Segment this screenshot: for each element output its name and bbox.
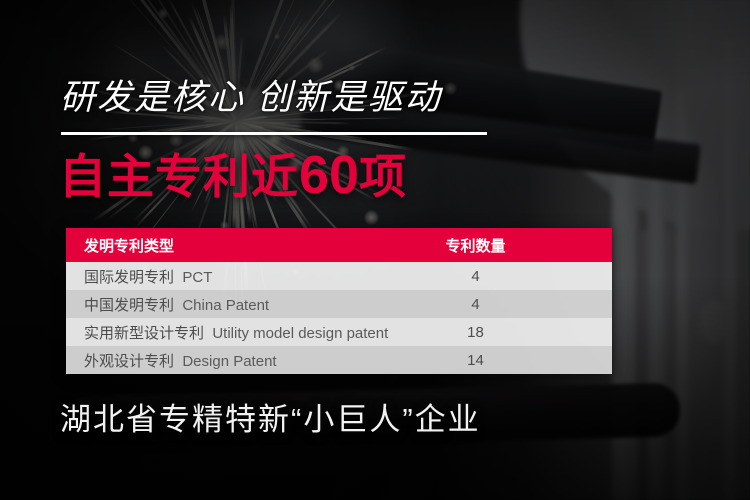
cell-patent-type: 实用新型设计专利 Utility model design patent — [66, 318, 339, 346]
patent-type-en: Design Patent — [174, 353, 277, 370]
patent-table-head: 发明专利类型 专利数量 — [66, 228, 612, 262]
cell-patent-type: 中国发明专利 China Patent — [66, 290, 339, 318]
cell-patent-count: 4 — [339, 290, 612, 318]
title-divider — [61, 132, 487, 135]
patent-type-en: China Patent — [174, 297, 269, 314]
table-row: 实用新型设计专利 Utility model design patent18 — [66, 318, 612, 346]
column-header-count: 专利数量 — [339, 228, 612, 262]
cell-patent-count: 4 — [339, 262, 612, 290]
patent-table: 发明专利类型 专利数量 国际发明专利 PCT4中国发明专利 China Pate… — [66, 228, 612, 374]
table-row: 中国发明专利 China Patent4 — [66, 290, 612, 318]
patent-type-en: Utility model design patent — [204, 325, 388, 342]
accent-headline-prefix: 自主专利近 — [59, 150, 299, 203]
accent-headline-number: 60 — [299, 145, 359, 205]
patent-type-cn: 中国发明专利 — [84, 297, 174, 314]
table-header-row: 发明专利类型 专利数量 — [66, 228, 612, 262]
cell-patent-type: 国际发明专利 PCT — [66, 262, 339, 290]
table-row: 国际发明专利 PCT4 — [66, 262, 612, 290]
patent-type-cn: 实用新型设计专利 — [84, 325, 204, 342]
footer-caption: 湖北省专精特新“小巨人”企业 — [60, 402, 481, 438]
table-row: 外观设计专利 Design Patent14 — [66, 346, 612, 374]
patent-type-cn: 国际发明专利 — [84, 269, 174, 286]
poster-banner: 研发是核心 创新是驱动 自主专利近60项 发明专利类型 专利数量 国际发明专利 … — [0, 0, 750, 500]
accent-headline: 自主专利近60项 — [59, 146, 407, 204]
patent-type-cn: 外观设计专利 — [84, 353, 174, 370]
poster-content: 研发是核心 创新是驱动 自主专利近60项 发明专利类型 专利数量 国际发明专利 … — [0, 0, 750, 500]
page-title: 研发是核心 创新是驱动 — [60, 79, 442, 118]
accent-headline-suffix: 项 — [359, 150, 407, 203]
column-header-type: 发明专利类型 — [66, 228, 339, 262]
patent-type-en: PCT — [174, 269, 212, 286]
cell-patent-count: 14 — [339, 346, 612, 374]
cell-patent-type: 外观设计专利 Design Patent — [66, 346, 339, 374]
patent-table-body: 国际发明专利 PCT4中国发明专利 China Patent4实用新型设计专利 … — [66, 262, 612, 374]
